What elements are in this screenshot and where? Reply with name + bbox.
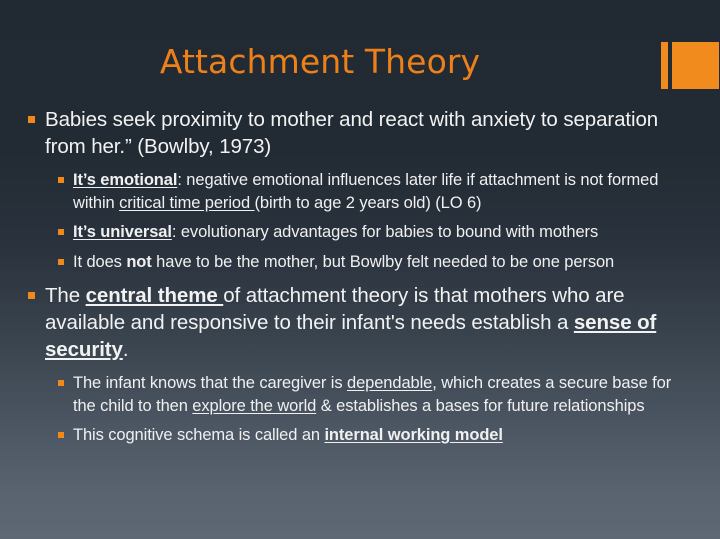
bullet-text: The infant knows that the caregiver is: [73, 374, 347, 392]
bullet-underlined-term-2: explore the world: [192, 397, 316, 415]
orange-wide-bar-icon: [672, 42, 719, 89]
bullet-square-icon: [58, 380, 64, 386]
bullet-level1-babies: Babies seek proximity to mother and reac…: [26, 106, 698, 160]
bullet-square-icon: [28, 292, 35, 299]
bullet-square-icon: [58, 177, 64, 183]
presentation-slide: Attachment Theory Babies seek proximity …: [0, 0, 720, 539]
bullet-underlined-term: critical time period: [119, 194, 254, 212]
bullet-bold-term: not: [126, 253, 151, 271]
spacer: [57, 244, 698, 251]
spacer: [57, 214, 698, 221]
bullet-text-tail: & establishes a bases for future relatio…: [316, 397, 644, 415]
bullet-square-icon: [58, 229, 64, 235]
bullet-level2-internal-working-model: This cognitive schema is called an inter…: [57, 424, 698, 447]
bullet-text: It does: [73, 253, 126, 271]
bullet-underlined-term: dependable: [347, 374, 432, 392]
bullet-square-icon: [28, 116, 35, 123]
bullet-text-tail: (birth to age 2 years old) (LO 6): [255, 194, 482, 212]
sublist-group-1: It’s emotional: negative emotional influ…: [26, 169, 698, 273]
bullet-text: The: [45, 284, 86, 307]
slide-title: Attachment Theory: [0, 44, 640, 80]
spacer: [26, 364, 698, 372]
slide-decoration: [661, 42, 719, 89]
bullet-square-icon: [58, 259, 64, 265]
bullet-level2-not-mother: It does not have to be the mother, but B…: [57, 251, 698, 274]
bullet-lead-emphasis: It’s universal: [73, 223, 172, 241]
spacer: [26, 161, 698, 169]
bullet-bold-underlined-term: internal working model: [324, 426, 502, 444]
bullet-text-tail: have to be the mother, but Bowlby felt n…: [152, 253, 614, 271]
bullet-text: Babies seek proximity to mother and reac…: [45, 108, 658, 158]
spacer: [57, 417, 698, 424]
slide-body: Babies seek proximity to mother and reac…: [26, 106, 698, 447]
sublist-group-2: The infant knows that the caregiver is d…: [26, 372, 698, 447]
bullet-text: : evolutionary advantages for babies to …: [172, 223, 598, 241]
bullet-level1-central-theme: The central theme of attachment theory i…: [26, 282, 698, 363]
spacer: [26, 273, 698, 282]
orange-thin-bar-icon: [661, 42, 668, 89]
bullet-level2-its-emotional: It’s emotional: negative emotional influ…: [57, 169, 698, 214]
bullet-level2-its-universal: It’s universal: evolutionary advantages …: [57, 221, 698, 244]
bullet-square-icon: [58, 432, 64, 438]
bullet-level2-infant-knows: The infant knows that the caregiver is d…: [57, 372, 698, 417]
bullet-bold-underlined-term: central theme: [86, 284, 224, 307]
bullet-text: This cognitive schema is called an: [73, 426, 324, 444]
bullet-lead-emphasis: It’s emotional: [73, 171, 177, 189]
bullet-text-tail: .: [123, 338, 129, 361]
